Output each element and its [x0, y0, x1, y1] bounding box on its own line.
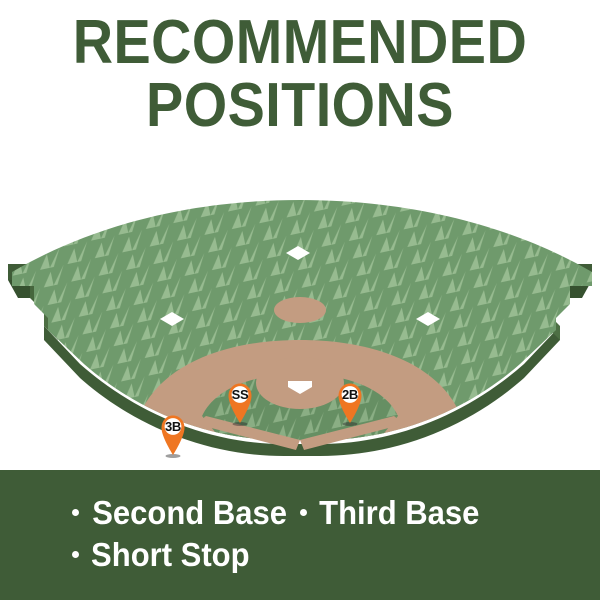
- second-base-pin[interactable]: 2B: [335, 382, 365, 424]
- page-title-line-1: RECOMMENDED: [30, 14, 570, 71]
- recommended-positions-graphic: RECOMMENDED POSITIONS: [0, 0, 600, 600]
- pin-label: 2B: [335, 384, 365, 405]
- bullet-dot-icon: [72, 551, 79, 558]
- positions-legend-panel: Second Base Short Stop Third Base: [0, 470, 600, 600]
- list-item: Short Stop: [72, 534, 280, 576]
- list-item-label: Second Base: [92, 492, 287, 534]
- list-item: Second Base: [72, 492, 280, 534]
- bullet-dot-icon: [72, 509, 79, 516]
- legend-columns: Second Base Short Stop Third Base: [0, 492, 600, 576]
- pin-label: 3B: [158, 416, 188, 437]
- list-item: Third Base: [300, 492, 600, 534]
- page-title: RECOMMENDED POSITIONS: [0, 14, 600, 134]
- field-svg: [0, 168, 600, 460]
- bullet-dot-icon: [300, 509, 307, 516]
- third-base-pin[interactable]: 3B: [158, 414, 188, 456]
- legend-column-right: Third Base: [280, 492, 600, 576]
- list-item-label: Short Stop: [91, 534, 250, 576]
- list-item-label: Third Base: [319, 492, 479, 534]
- legend-column-left: Second Base Short Stop: [0, 492, 280, 576]
- short-stop-pin[interactable]: SS: [225, 382, 255, 424]
- pin-label: SS: [225, 384, 255, 405]
- home-plate-area: [256, 357, 344, 409]
- page-title-line-2: POSITIONS: [30, 77, 570, 134]
- pitchers-mound: [274, 297, 326, 323]
- baseball-field-diagram: 3B SS 2B: [0, 168, 600, 460]
